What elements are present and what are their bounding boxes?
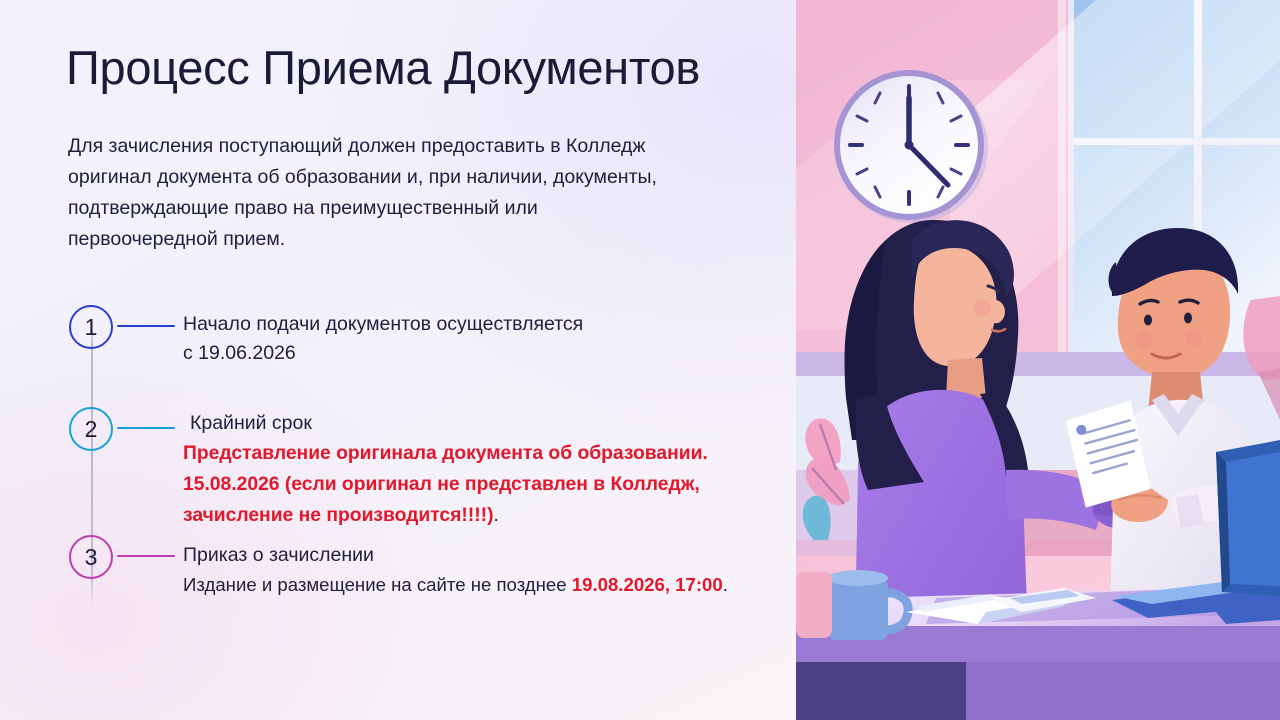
illustration-svg — [796, 0, 1280, 720]
step-2-warning-line-2: 15.08.2026 (если оригинал не представлен… — [183, 469, 708, 500]
step-2-warning-line-1: Представление оригинала документа об обр… — [183, 438, 708, 469]
step-3-connector — [117, 555, 175, 557]
man-eye-left — [1144, 315, 1152, 326]
woman-cheek — [973, 299, 991, 317]
step-3-number-circle: 3 — [69, 535, 113, 579]
step-3-subline: Издание и размещение на сайте не позднее… — [183, 570, 728, 599]
content-pane: Процесс Приема Документов Для зачисления… — [0, 0, 796, 720]
step-1-line-2: с 19.06.2026 — [183, 339, 583, 368]
step-1-line-1: Начало подачи документов осуществляется — [183, 310, 583, 339]
step-2-warning-line-3: зачисление не производится!!!!). — [183, 500, 708, 531]
step-2-body: Крайний срок Представление оригинала док… — [183, 409, 708, 531]
slide-root: Процесс Приема Документов Для зачисления… — [0, 0, 1280, 720]
step-2-number-circle: 2 — [69, 407, 113, 451]
step-3-deadline: 19.08.2026, 17:00 — [572, 574, 723, 595]
office-illustration — [796, 0, 1280, 720]
step-3-sub-prefix: Издание и размещение на сайте не позднее — [183, 574, 572, 595]
step-1-number-circle: 1 — [69, 305, 113, 349]
step-3-sub-period: . — [723, 574, 728, 595]
man-eye-right — [1184, 313, 1192, 324]
step-3-heading: Приказ о зачислении — [183, 541, 728, 570]
step-1-connector — [117, 325, 175, 327]
desk-shadow-left — [796, 662, 966, 720]
mug-secondary — [796, 572, 832, 638]
step-2-warning-period: . — [494, 505, 499, 526]
step-2-heading: Крайний срок — [183, 409, 708, 438]
step-1-body: Начало подачи документов осуществляется … — [183, 310, 583, 368]
step-2-connector — [117, 427, 175, 429]
monitor-icon — [1216, 440, 1280, 596]
step-3-body: Приказ о зачислении Издание и размещение… — [183, 541, 728, 599]
timeline: 1 Начало подачи документов осуществляетс… — [0, 0, 796, 720]
step-2-warning-text: зачисление не производится!!!!) — [183, 505, 494, 526]
